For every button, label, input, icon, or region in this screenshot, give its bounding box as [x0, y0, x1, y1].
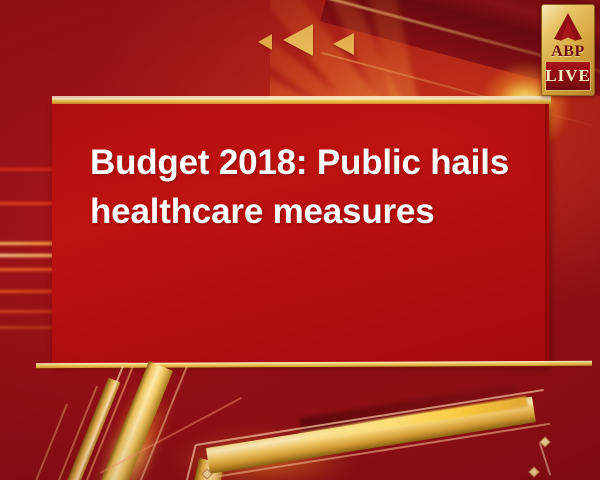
abp-chevron-arrow-icon [542, 11, 594, 45]
vignette-overlay [0, 0, 600, 480]
abp-live-logo[interactable]: ABP LIVE [541, 4, 595, 96]
logo-live-badge: LIVE [545, 61, 591, 91]
news-graphic-canvas: Budget 2018: Public hails healthcare mea… [0, 0, 600, 480]
logo-live-text: LIVE [545, 66, 591, 86]
logo-brand-text: ABP [542, 43, 594, 61]
